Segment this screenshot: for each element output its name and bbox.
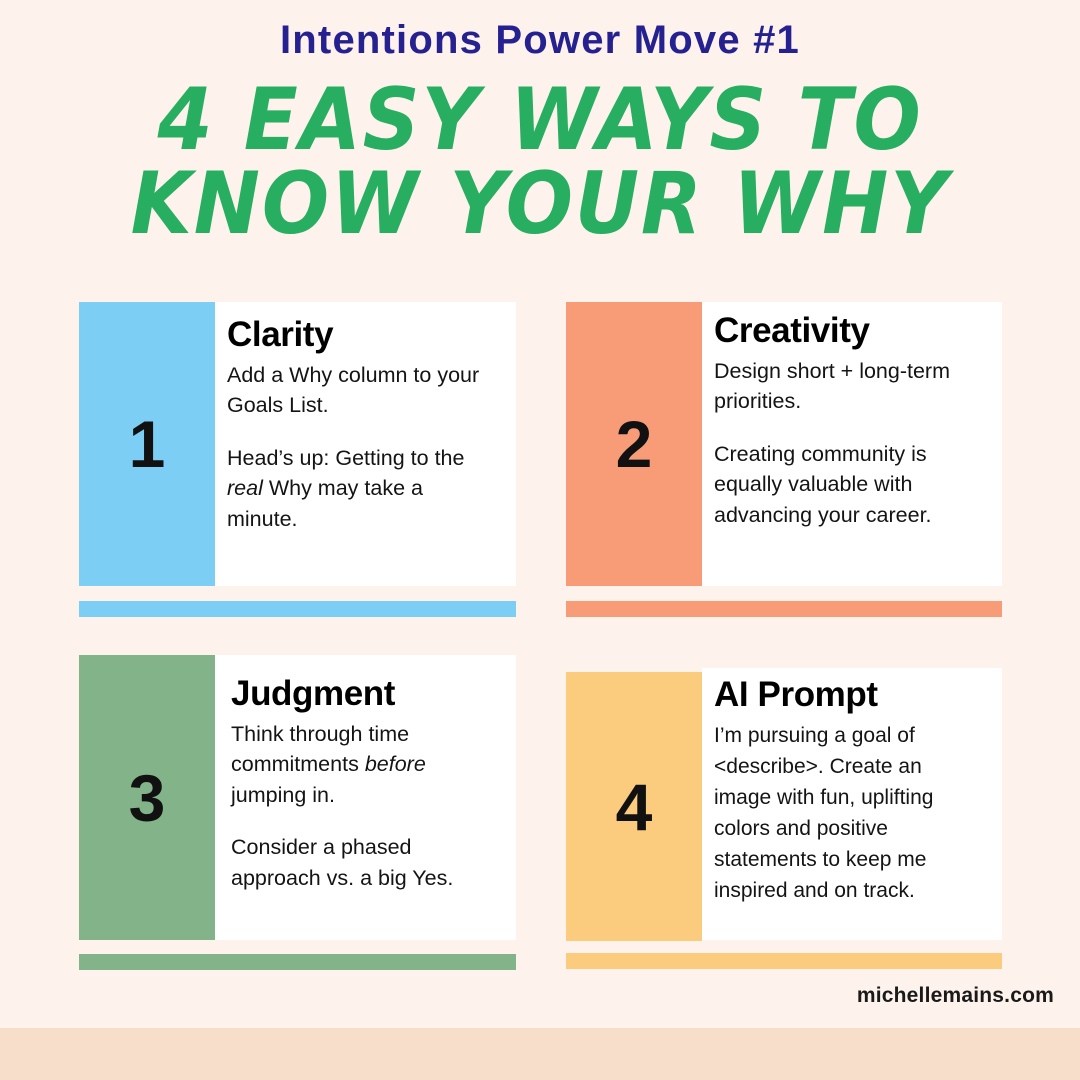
page-title: 4 Easy Ways To Know Your Why [43, 78, 1037, 247]
infographic-poster: Intentions Power Move #1 4 Easy Ways To … [0, 0, 1080, 1080]
card-paragraph-1-1: Add a Why column to your Goals List. [227, 360, 498, 421]
card-number-4: 4 [616, 774, 653, 840]
card-underline-bar-3 [79, 954, 516, 970]
text-pre: Consider a phased approach vs. a big Yes… [231, 835, 453, 890]
text-pre: Head’s up: Getting to the [227, 446, 464, 470]
card-paragraph-3-1: Think through time commitments before ju… [231, 719, 498, 811]
text-emphasis: before [365, 752, 426, 776]
card-title-4: AI Prompt [714, 676, 984, 714]
card-creativity[interactable]: 2 Creativity Design short + long-term pr… [566, 302, 1002, 586]
text-emphasis: real [227, 476, 263, 500]
card-number-1: 1 [129, 411, 166, 477]
headline-line-2: Know Your Why [43, 162, 1037, 246]
card-title-1: Clarity [227, 316, 498, 354]
card-ai-prompt[interactable]: 4 AI Prompt I’m pursuing a goal of <desc… [566, 668, 1002, 940]
card-underline-bar-4 [566, 953, 1002, 969]
card-paragraph-2-2: Creating community is equally valuable w… [714, 439, 984, 531]
card-body-3: Judgment Think through time commitments … [215, 655, 516, 940]
text-pre: Add a Why column to your Goals List. [227, 363, 479, 418]
footer-band [0, 1028, 1080, 1080]
text-post: jumping in. [231, 783, 335, 807]
card-judgment[interactable]: 3 Judgment Think through time commitment… [79, 655, 516, 940]
card-underline-bar-1 [79, 601, 516, 617]
eyebrow-title: Intentions Power Move #1 [0, 18, 1080, 63]
card-number-2: 2 [616, 411, 653, 477]
card-body-2: Creativity Design short + long-term prio… [702, 302, 1002, 586]
text-pre: Design short + long-term priorities. [714, 359, 950, 414]
card-body-4: AI Prompt I’m pursuing a goal of <descri… [702, 668, 1002, 940]
card-body-1: Clarity Add a Why column to your Goals L… [215, 302, 516, 586]
card-paragraph-1-2: Head’s up: Getting to the real Why may t… [227, 443, 498, 535]
card-paragraph-3-2: Consider a phased approach vs. a big Yes… [231, 832, 498, 893]
card-paragraph-4-1: I’m pursuing a goal of <describe>. Creat… [714, 720, 984, 906]
card-number-block-4: 4 [566, 672, 702, 941]
text-pre: Creating community is equally valuable w… [714, 442, 932, 527]
card-title-2: Creativity [714, 312, 984, 350]
text-pre: I’m pursuing a goal of <describe>. Creat… [714, 724, 933, 902]
headline-line-1: 4 Easy Ways To [43, 78, 1037, 162]
card-number-3: 3 [129, 765, 166, 831]
site-url[interactable]: michellemains.com [857, 984, 1054, 1008]
card-clarity[interactable]: 1 Clarity Add a Why column to your Goals… [79, 302, 516, 586]
card-paragraph-2-1: Design short + long-term priorities. [714, 356, 984, 417]
card-underline-bar-2 [566, 601, 1002, 617]
card-number-block-2: 2 [566, 302, 702, 586]
card-number-block-1: 1 [79, 302, 215, 586]
card-number-block-3: 3 [79, 655, 215, 940]
card-title-3: Judgment [231, 675, 498, 713]
